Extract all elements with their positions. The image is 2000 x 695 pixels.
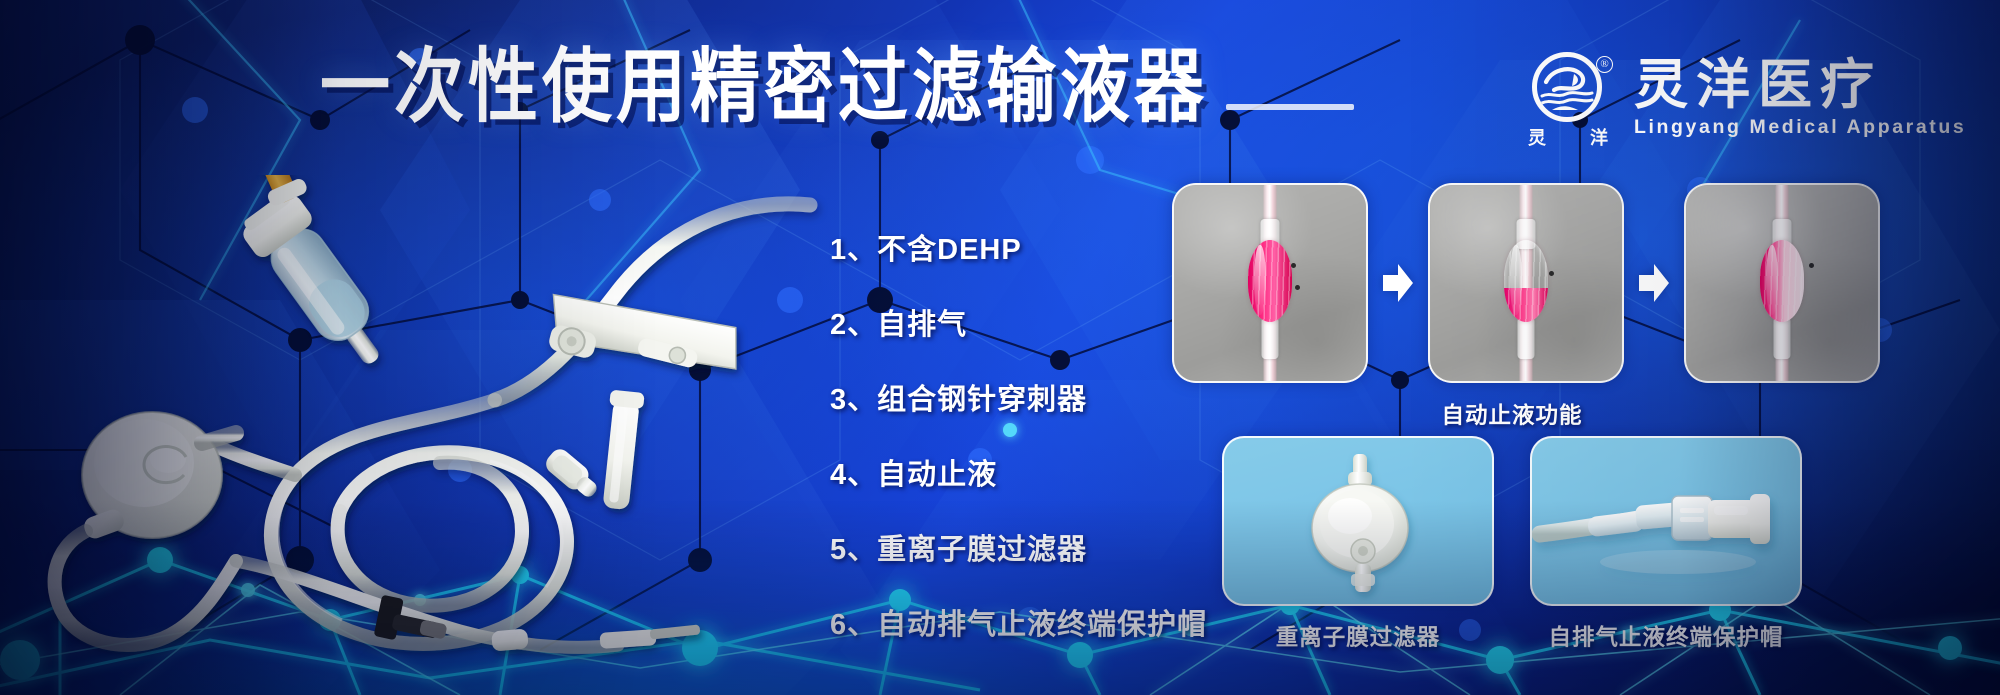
logo-sub-left: 灵 — [1528, 124, 1546, 150]
sequence-arrow-1 — [1368, 262, 1428, 304]
terminal-protector-cap-graphic — [1532, 438, 1802, 606]
brand-name-en: Lingyang Medical Apparatus — [1634, 116, 1966, 139]
drip-chamber — [1504, 240, 1548, 322]
brand-name-cn: 灵洋医疗 — [1634, 57, 1966, 114]
drip-chamber — [1248, 240, 1292, 322]
demo-caption: 自动止液功能 — [1172, 398, 1852, 430]
panel-caption-protector: 自排气止液终端保护帽 — [1530, 620, 1802, 652]
auto-stop-demo-sequence — [1172, 183, 1880, 383]
tube-coupler-lower — [1518, 317, 1535, 359]
component-panels: 重离子膜过滤器 — [1222, 436, 1802, 652]
protector-cap-photo — [1530, 436, 1802, 606]
chamber-gloss — [1510, 245, 1521, 316]
brand-logo[interactable]: ® 灵 洋 灵洋医疗 Lingyang Medical Apparatus — [1528, 52, 1966, 144]
arrow-right-icon — [1381, 262, 1415, 304]
sequence-arrow-2 — [1624, 262, 1684, 304]
logo-mark-icon: ® 灵 洋 — [1528, 52, 1614, 144]
heavy-ion-membrane-filter-graphic — [1224, 438, 1494, 606]
iv-infusion-set-photo — [40, 175, 830, 675]
wave-bird-glyph — [1538, 64, 1596, 114]
demo-frame-2 — [1428, 183, 1624, 383]
logo-circle — [1532, 52, 1602, 122]
specular-dot — [1295, 285, 1300, 290]
feature-item-1: 1、不含DEHP — [830, 226, 1207, 268]
arrow-right-icon — [1637, 262, 1671, 304]
brand-name-block: 灵洋医疗 Lingyang Medical Apparatus — [1634, 57, 1966, 139]
tube-coupler-lower — [1262, 317, 1279, 359]
feature-item-6: 6、自动排气止液终端保护帽 — [830, 601, 1207, 643]
logo-subtext: 灵 洋 — [1528, 124, 1608, 150]
registered-trademark-icon: ® — [1596, 56, 1613, 73]
feature-list: 1、不含DEHP 2、自排气 3、组合钢针穿刺器 4、自动止液 5、重离子膜过滤… — [830, 226, 1207, 643]
component-panel-filter: 重离子膜过滤器 — [1222, 436, 1494, 652]
feature-item-4: 4、自动止液 — [830, 451, 1207, 493]
chamber-gloss — [1766, 245, 1777, 316]
drip-chamber — [1760, 240, 1804, 322]
product-banner: 一次性使用精密过滤输液器 ® 灵 洋 灵洋医疗 Lingyang Medical… — [0, 0, 2000, 695]
demo-frame-3 — [1684, 183, 1880, 383]
tube-coupler-lower — [1774, 317, 1791, 359]
panel-caption-filter: 重离子膜过滤器 — [1222, 620, 1494, 652]
page-title: 一次性使用精密过滤输液器 — [320, 46, 1208, 127]
demo-frame-1 — [1172, 183, 1368, 383]
chamber-gloss — [1254, 245, 1265, 316]
logo-sub-right: 洋 — [1590, 124, 1608, 150]
filter-photo — [1222, 436, 1494, 606]
feature-item-5: 5、重离子膜过滤器 — [830, 526, 1207, 568]
feature-item-3: 3、组合钢针穿刺器 — [830, 376, 1207, 418]
feature-item-2: 2、自排气 — [830, 301, 1207, 343]
component-panel-protector: 自排气止液终端保护帽 — [1530, 436, 1802, 652]
